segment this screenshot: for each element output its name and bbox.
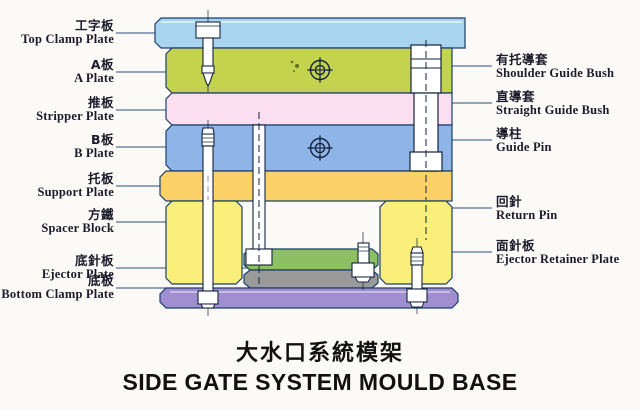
label-en: B Plate (8, 147, 114, 160)
figure-title: 大水口系統模架 SIDE GATE SYSTEM MOULD BASE (0, 335, 640, 396)
plate-stripper (166, 93, 452, 125)
label-top-clamp-plate: 工字板 Top Clamp Plate (8, 20, 114, 46)
label-en: Stripper Plate (8, 110, 114, 123)
title-english: SIDE GATE SYSTEM MOULD BASE (0, 369, 640, 396)
label-en: Spacer Block (8, 222, 114, 235)
label-stripper-plate: 推板 Stripper Plate (8, 97, 114, 123)
label-cn: B板 (8, 134, 114, 147)
label-spacer-block: 方鐵 Spacer Block (8, 209, 114, 235)
label-cn: A板 (8, 59, 114, 72)
label-straight-guide-bush: 直導套 Straight Guide Bush (496, 91, 638, 117)
label-guide-pin: 導柱 Guide Pin (496, 128, 638, 154)
label-cn: 直導套 (496, 91, 638, 104)
label-en: A Plate (8, 72, 114, 85)
label-ejector-retainer-plate: 面針板 Ejector Retainer Plate (496, 240, 640, 266)
label-cn: 推板 (8, 97, 114, 110)
label-en: Support Plate (8, 186, 114, 199)
label-cn: 底針板 (8, 255, 114, 268)
label-cn: 底板 (0, 275, 114, 288)
label-en: Return Pin (496, 209, 638, 222)
mould-assembly (155, 10, 465, 316)
label-b-plate: B板 B Plate (8, 134, 114, 160)
label-en: Bottom Clamp Plate (0, 288, 114, 301)
label-en: Top Clamp Plate (8, 33, 114, 46)
label-cn: 有托導套 (496, 54, 638, 67)
label-shoulder-guide-bush: 有托導套 Shoulder Guide Bush (496, 54, 638, 80)
label-cn: 面針板 (496, 240, 640, 253)
label-cn: 回針 (496, 196, 638, 209)
label-return-pin: 回針 Return Pin (496, 196, 638, 222)
label-bottom-clamp-plate: 底板 Bottom Clamp Plate (0, 275, 114, 301)
label-support-plate: 托板 Support Plate (8, 173, 114, 199)
title-chinese: 大水口系統模架 (0, 335, 640, 367)
label-en: Guide Pin (496, 141, 638, 154)
label-en: Ejector Retainer Plate (496, 253, 640, 266)
label-cn: 工字板 (8, 20, 114, 33)
label-en: Straight Guide Bush (496, 104, 638, 117)
label-cn: 方鐵 (8, 209, 114, 222)
label-a-plate: A板 A Plate (8, 59, 114, 85)
label-cn: 托板 (8, 173, 114, 186)
label-en: Shoulder Guide Bush (496, 67, 638, 80)
label-cn: 導柱 (496, 128, 638, 141)
